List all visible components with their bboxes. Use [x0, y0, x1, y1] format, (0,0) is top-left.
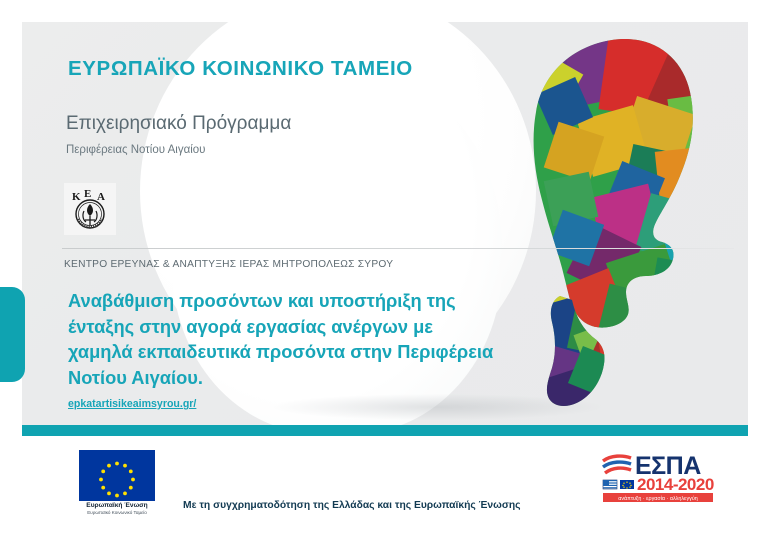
headline: Αναβάθμιση προσόντων και υποστήριξη της … [68, 288, 498, 390]
espa-tagline: ανάπτυξη · εργασία · αλληλεγγύη [618, 495, 698, 502]
organization-name: ΚΕΝΤΡΟ ΕΡΕΥΝΑΣ & ΑΝΑΠΤΥΞΗΣ ΙΕΡΑΣ ΜΗΤΡΟΠΟ… [64, 259, 393, 270]
svg-text:Α: Α [97, 191, 105, 203]
european-union-flag [79, 450, 155, 501]
eu-caption-union: Ευρωπαϊκή Ένωση [79, 502, 155, 509]
svg-text:Κ: Κ [72, 191, 81, 203]
teal-divider-bar [22, 425, 748, 436]
colorful-mosaic-head-icon [476, 0, 748, 412]
svg-text:Ε: Ε [84, 188, 91, 200]
eu-caption-fund: Ευρωπαϊκό Κοινωνικό Ταμείο [75, 510, 159, 515]
kea-seal-logo: Κ Ε Α [64, 183, 116, 235]
svg-text:2014-2020: 2014-2020 [637, 475, 714, 494]
page-title: ΕΥΡΩΠΑΪΚΟ ΚΟΙΝΩΝΙΚΟ ΤΑΜΕΙΟ [68, 57, 413, 81]
region-label: Περιφέρειας Νοτίου Αιγαίου [66, 144, 205, 156]
poster-canvas: ΕΥΡΩΠΑΪΚΟ ΚΟΙΝΩΝΙΚΟ ΤΑΜΕΙΟ Επιχειρησιακό… [0, 0, 770, 545]
teal-tab-accent [0, 287, 25, 382]
divider [62, 248, 734, 249]
project-url-link[interactable]: epkatartisikeaimsyrou.gr/ [68, 398, 196, 410]
cofinancing-statement: Με τη συγχρηματοδότηση της Ελλάδας και τ… [183, 500, 521, 511]
programme-label: Επιχειρησιακό Πρόγραμμα [66, 113, 291, 135]
espa-logo: ΕΣΠΑ 2014-2020 ανάπτυξη · εργασία · αλλη… [601, 449, 715, 505]
